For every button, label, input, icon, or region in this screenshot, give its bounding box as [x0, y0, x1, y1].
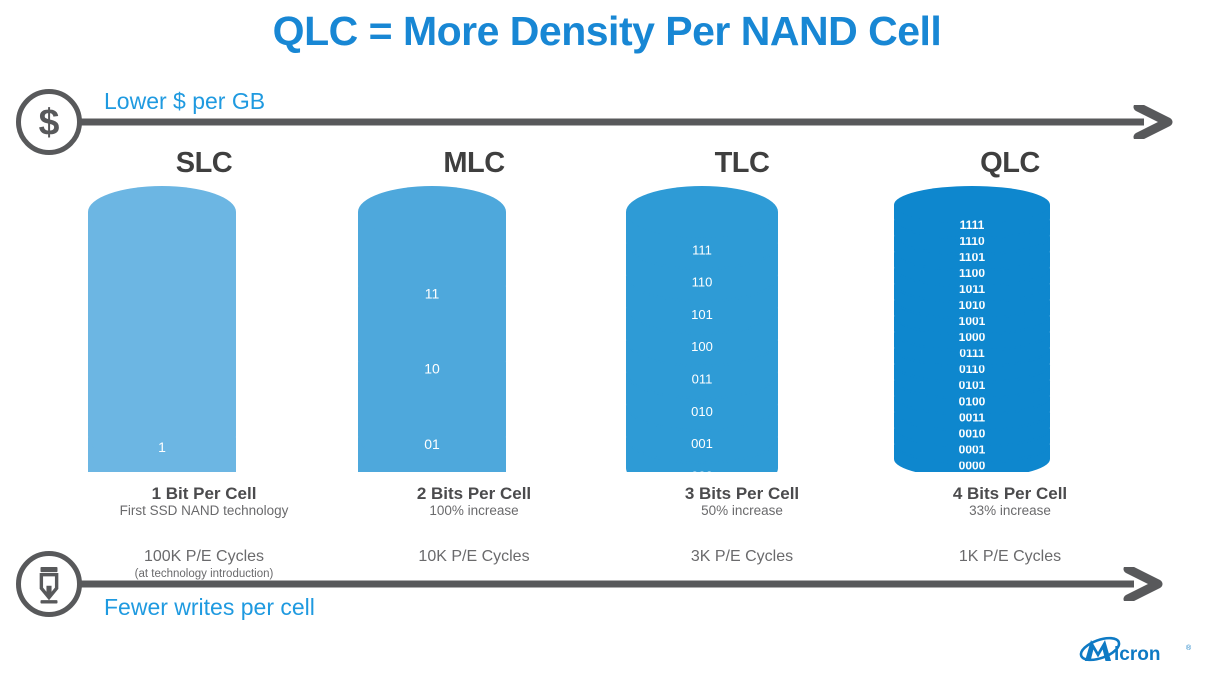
pe-cycles-mlc: 10K P/E Cycles	[354, 548, 594, 566]
disc-label: 010	[691, 404, 713, 419]
column-slc: SLC 01	[84, 146, 324, 472]
column-qlc: QLC 000000010010001101000101011001111000…	[890, 146, 1130, 472]
column-tlc: TLC 000001010011100101110111	[622, 146, 862, 472]
disc: 1	[88, 186, 236, 462]
bits-sub-tlc: 50% increase	[622, 503, 862, 518]
pe-cycles-qlc: 1K P/E Cycles	[890, 548, 1130, 566]
pencil-write-icon	[16, 551, 82, 617]
micron-wordmark: icron	[1114, 644, 1160, 665]
bits-sub-slc: First SSD NAND technology	[84, 503, 324, 518]
svg-text:$: $	[39, 101, 60, 143]
column-mlc: MLC 00011011	[354, 146, 594, 472]
disc-label: 011	[692, 372, 713, 387]
writes-axis-caption: Fewer writes per cell	[104, 594, 315, 621]
disc-label: 11	[425, 285, 440, 301]
bits-per-cell-tlc: 3 Bits Per Cell	[622, 484, 862, 504]
disc-stack-mlc: 00011011	[354, 180, 594, 472]
disc: 1111	[894, 186, 1050, 237]
bits-per-cell-qlc: 4 Bits Per Cell	[890, 484, 1130, 504]
disc-label: 10	[424, 361, 440, 377]
micron-logo: icron ®	[1078, 634, 1198, 668]
disc-stack-qlc: 0000000100100011010001010110011110001001…	[890, 180, 1130, 472]
disc-label: 1111	[960, 218, 985, 232]
pe-cycles-tlc: 3K P/E Cycles	[622, 548, 862, 566]
disc-label: 110	[692, 275, 713, 290]
disc-stack-graphic: 000001010011100101110111	[622, 180, 782, 472]
column-title-tlc: TLC	[622, 146, 862, 180]
column-title-slc: SLC	[84, 146, 324, 180]
svg-text:®: ®	[1186, 644, 1192, 652]
disc-label: 1	[158, 439, 166, 455]
disc: 111	[626, 186, 778, 268]
column-title-qlc: QLC	[890, 146, 1130, 180]
disc-stack-tlc: 000001010011100101110111	[622, 180, 862, 472]
disc-label: 001	[691, 436, 713, 451]
disc-label: 01	[424, 436, 440, 452]
disc-label: 000	[691, 468, 713, 472]
slide-canvas: QLC = More Density Per NAND Cell $ Lower…	[0, 0, 1214, 684]
bits-sub-mlc: 100% increase	[354, 503, 594, 518]
pe-cycles-slc: 100K P/E Cycles	[84, 548, 324, 566]
column-title-mlc: MLC	[354, 146, 594, 180]
disc-stack-graphic: 00011011	[354, 180, 510, 472]
disc-stack-graphic: 01	[84, 180, 240, 472]
disc-label: 101	[691, 307, 713, 322]
dollar-sign-icon: $	[16, 89, 82, 155]
bits-sub-qlc: 33% increase	[890, 503, 1130, 518]
page-title: QLC = More Density Per NAND Cell	[0, 8, 1214, 55]
cost-axis-caption: Lower $ per GB	[104, 88, 265, 115]
disc-label: 111	[692, 242, 712, 257]
disc: 11	[358, 186, 506, 311]
disc-label: 100	[691, 339, 713, 354]
disc-stack-graphic: 0000000100100011010001010110011110001001…	[890, 180, 1054, 472]
disc-stack-slc: 01	[84, 180, 324, 472]
bits-per-cell-mlc: 2 Bits Per Cell	[354, 484, 594, 504]
bits-per-cell-slc: 1 Bit Per Cell	[84, 484, 324, 504]
